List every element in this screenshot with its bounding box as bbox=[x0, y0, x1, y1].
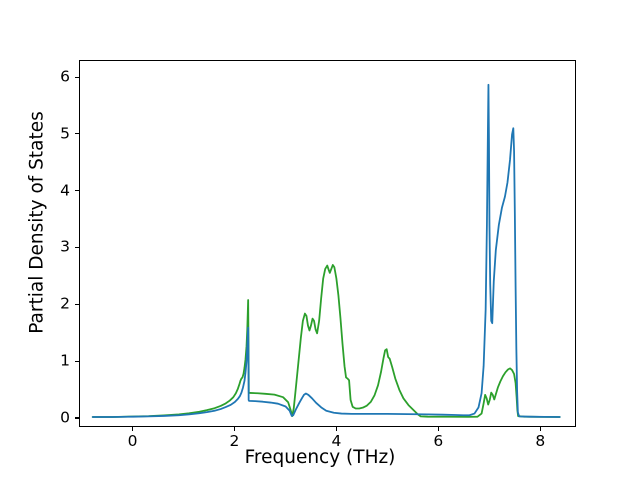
x-tick-mark bbox=[540, 427, 541, 431]
x-tick-mark bbox=[336, 427, 337, 431]
x-tick-mark bbox=[234, 427, 235, 431]
y-tick-mark bbox=[75, 77, 79, 78]
plot-canvas bbox=[80, 61, 575, 426]
x-axis-label: Frequency (THz) bbox=[0, 447, 640, 468]
x-tick-mark bbox=[132, 427, 133, 431]
y-tick-label: 0 bbox=[40, 410, 70, 426]
y-tick-mark bbox=[75, 304, 79, 305]
x-tick-mark bbox=[438, 427, 439, 431]
y-tick-mark bbox=[75, 247, 79, 248]
y-tick-mark bbox=[75, 417, 79, 418]
matplotlib-figure: 0123456 02468 Frequency (THz) Partial De… bbox=[0, 0, 640, 480]
y-tick-mark bbox=[75, 190, 79, 191]
series-1-line bbox=[93, 85, 560, 417]
y-tick-mark bbox=[75, 133, 79, 134]
plot-axes bbox=[79, 60, 576, 427]
y-axis-label: Partial Density of States bbox=[27, 43, 48, 403]
y-tick-mark bbox=[75, 361, 79, 362]
